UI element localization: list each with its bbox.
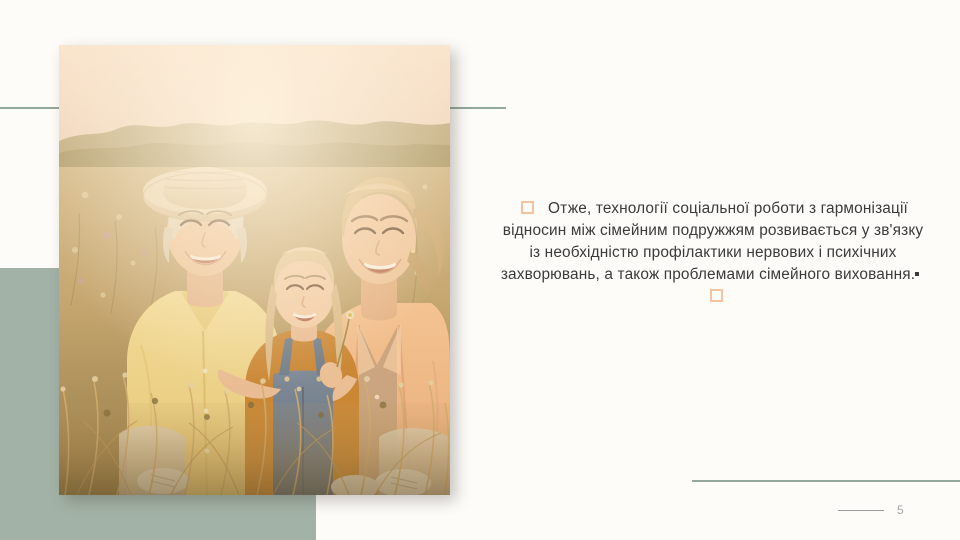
bullet-square-icon [521,201,534,214]
page-number: 5 [897,503,904,517]
body-paragraph: Отже, технології соціальної роботи з гар… [501,200,923,283]
presentation-slide: Отже, технології соціальної роботи з гар… [0,0,960,540]
page-number-rule [838,510,884,511]
slide-body-text: Отже, технології соціальної роботи з гар… [498,198,928,307]
page-number-group: 5 [838,503,904,517]
bullet-square-trailing-icon [710,289,723,302]
family-photo [59,45,450,495]
decorative-rule-bottom [692,480,960,482]
small-dot-marker [915,272,919,276]
family-photo-illustration [59,45,450,495]
